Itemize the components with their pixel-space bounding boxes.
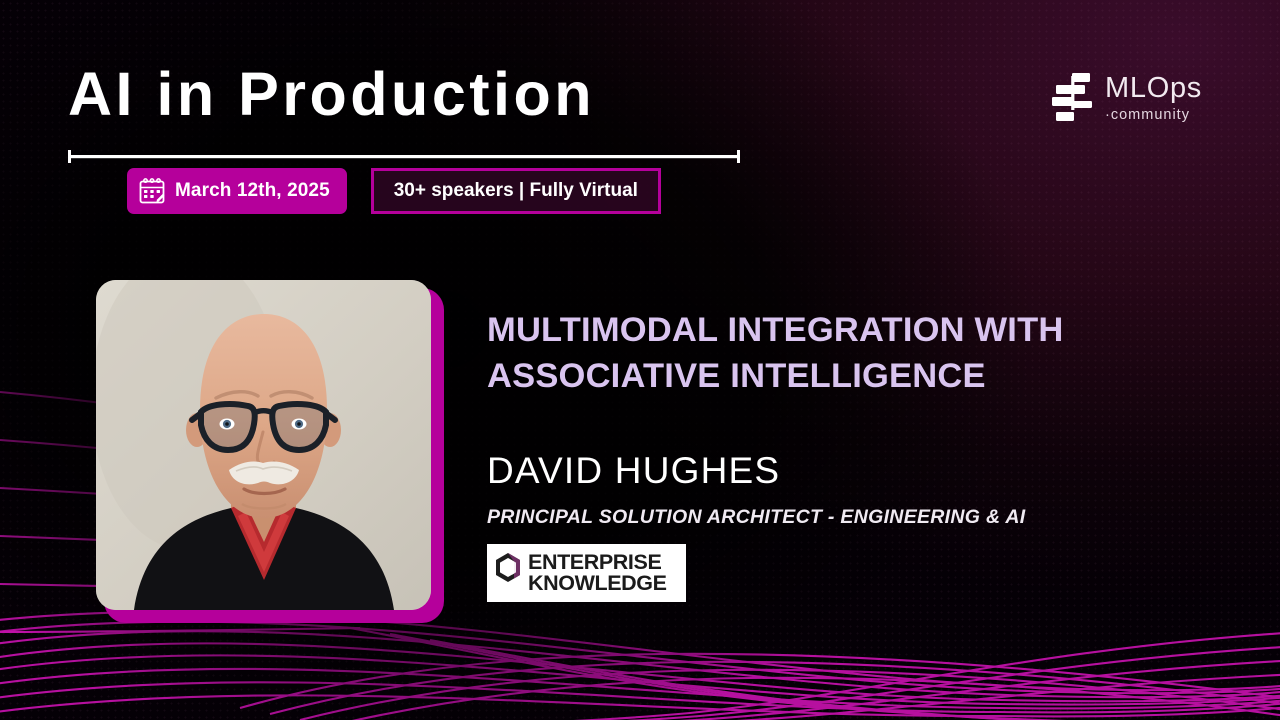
event-meta-badges: March 12th, 2025 30+ speakers | Fully Vi… — [127, 168, 661, 214]
mlops-stacked-bars-icon — [1048, 72, 1092, 124]
company-logo[interactable]: ENTERPRISE KNOWLEDGE — [487, 544, 686, 602]
company-name-line-1: ENTERPRISE — [528, 552, 667, 573]
title-underline-rule — [68, 148, 740, 166]
mlops-community-logo[interactable]: MLOps ·community — [1048, 72, 1202, 124]
speakers-badge-label: 30+ speakers | Fully Virtual — [394, 180, 638, 202]
date-badge[interactable]: March 12th, 2025 — [127, 168, 347, 214]
avatar — [96, 280, 431, 610]
header-block: AI in Production — [68, 62, 595, 126]
mlops-brand-name: MLOps — [1105, 74, 1202, 103]
mlops-tagline: ·community — [1105, 108, 1190, 123]
company-name-line-2: KNOWLEDGE — [528, 573, 667, 594]
speaker-name: DAVID HUGHES — [487, 452, 780, 489]
calendar-icon — [138, 177, 166, 205]
speaker-headshot-illustration — [96, 280, 431, 610]
talk-title: MULTIMODAL INTEGRATION WITH ASSOCIATIVE … — [487, 308, 1187, 400]
company-wordmark: ENTERPRISE KNOWLEDGE — [528, 552, 667, 595]
mlops-wordmark: MLOps ·community — [1105, 74, 1202, 123]
speakers-badge[interactable]: 30+ speakers | Fully Virtual — [371, 168, 661, 214]
page-title: AI in Production — [68, 62, 595, 126]
talk-title-block: MULTIMODAL INTEGRATION WITH ASSOCIATIVE … — [487, 308, 1187, 400]
speaker-role: PRINCIPAL SOLUTION ARCHITECT - ENGINEERI… — [487, 508, 1025, 528]
hexagon-icon — [491, 551, 525, 585]
speaker-photo-container — [96, 280, 436, 615]
date-badge-label: March 12th, 2025 — [175, 180, 330, 202]
